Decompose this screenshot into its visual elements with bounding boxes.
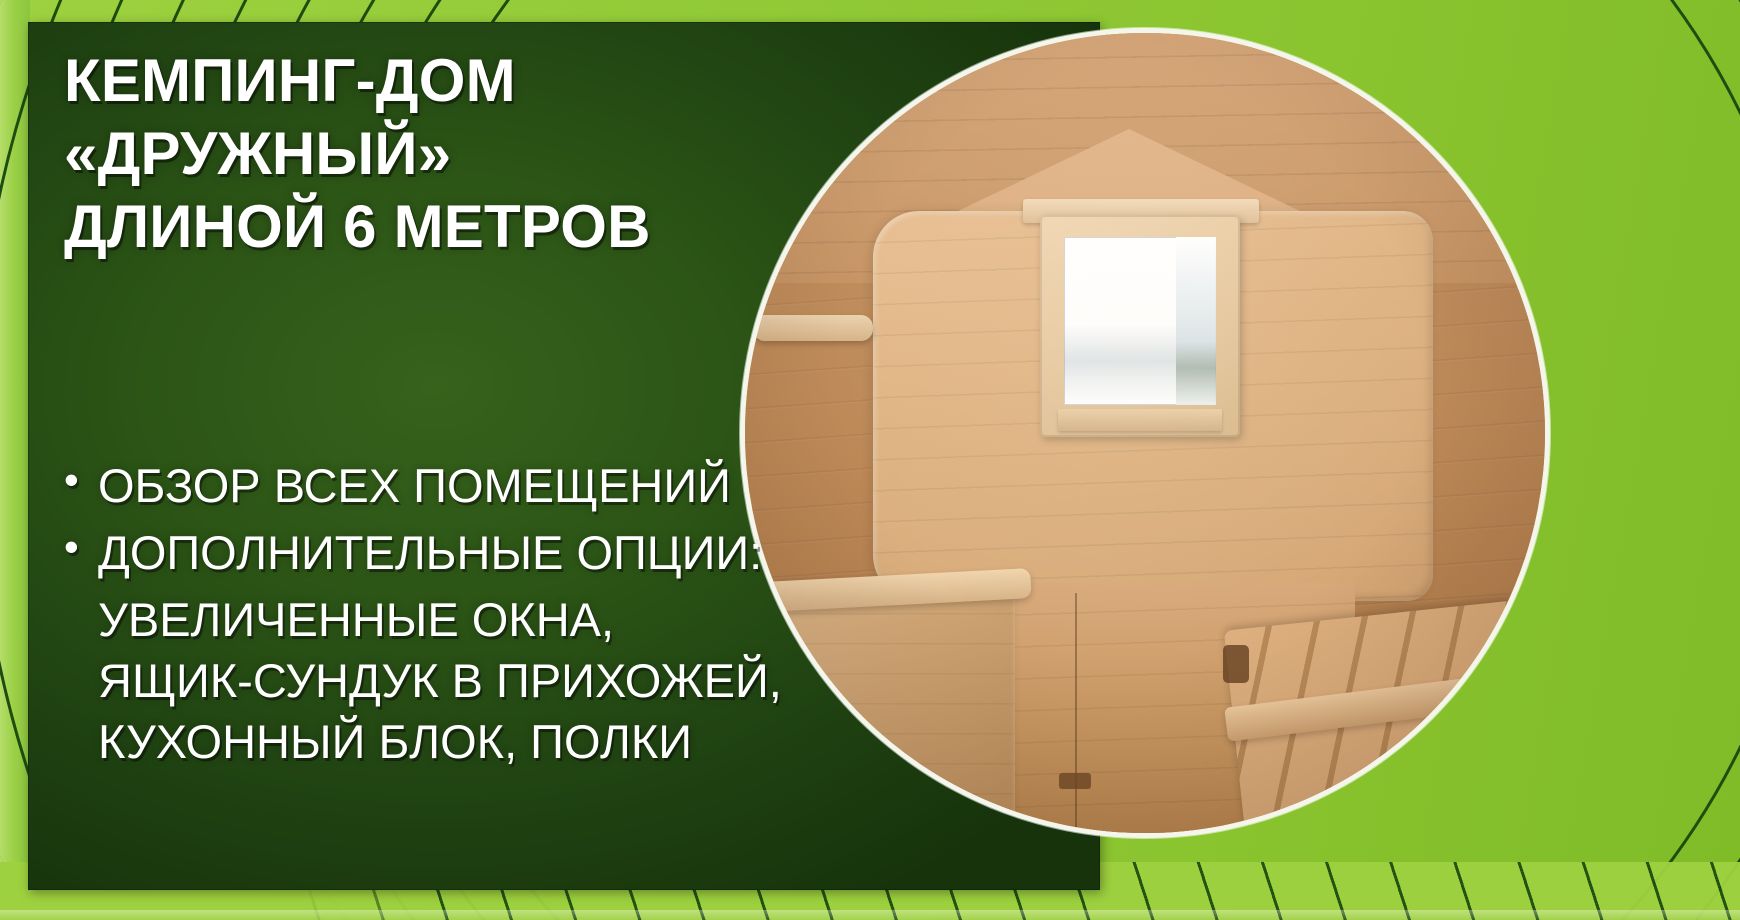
list-item-continuation: ЯЩИК-СУНДУК В ПРИХОЖЕЙ, (64, 650, 854, 711)
title-line-3: ДЛИНОЙ 6 МЕТРОВ (64, 190, 764, 263)
list-item-continuation: УВЕЛИЧЕННЫЕ ОКНА, (64, 589, 854, 650)
door-hinge (1059, 773, 1091, 789)
poster-canvas: КЕМПИНГ-ДОМ «ДРУЖНЫЙ» ДЛИНОЙ 6 МЕТРОВ ОБ… (0, 0, 1740, 920)
door-seam-line (1075, 593, 1077, 833)
wall-shelf (753, 315, 873, 341)
window-glass (1064, 237, 1216, 405)
list-item-continuation: КУХОННЫЙ БЛОК, ПОЛКИ (64, 711, 854, 772)
title-line-2: «ДРУЖНЫЙ» (64, 117, 764, 190)
title-line-1: КЕМПИНГ-ДОМ (64, 44, 764, 117)
list-item: ОБЗОР ВСЕХ ПОМЕЩЕНИЙ (64, 455, 854, 516)
feature-bullet-list: ОБЗОР ВСЕХ ПОМЕЩЕНИЙ ДОПОЛНИТЕЛЬНЫЕ ОПЦИ… (64, 455, 854, 772)
bench-knob (1223, 645, 1249, 683)
circular-photo-frame (740, 28, 1550, 838)
bottom-gloss-highlight (0, 910, 1740, 920)
window-frame (1040, 215, 1240, 437)
page-title: КЕМПИНГ-ДОМ «ДРУЖНЫЙ» ДЛИНОЙ 6 МЕТРОВ (64, 44, 764, 264)
cabin-interior-photo (745, 33, 1545, 833)
window-sill (1058, 409, 1222, 431)
list-item: ДОПОЛНИТЕЛЬНЫЕ ОПЦИИ: (64, 522, 854, 583)
